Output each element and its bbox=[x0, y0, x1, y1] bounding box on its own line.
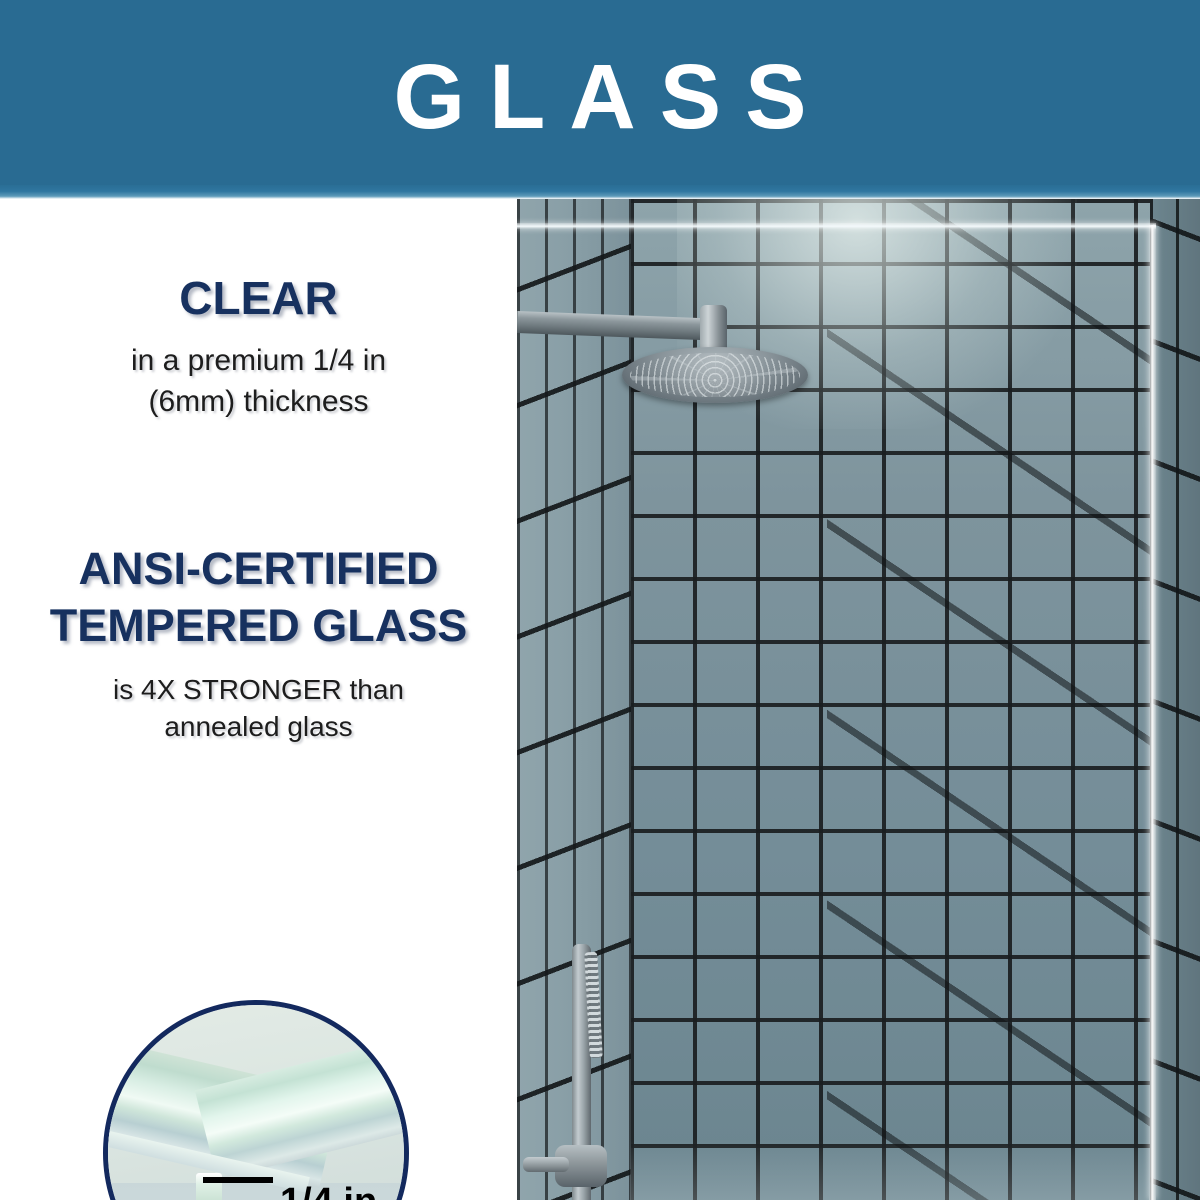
glass-panel-vertical-edge bbox=[1149, 225, 1156, 1200]
right-wall-grout-diagonal bbox=[1150, 199, 1200, 1200]
feature-ansi-subtext-line2: annealed glass bbox=[0, 708, 517, 745]
tiled-right-wall bbox=[1150, 199, 1200, 1200]
glass-thickness-diagram: 1/4 in (6mm) bbox=[103, 1000, 409, 1200]
rain-shower-head bbox=[622, 347, 808, 403]
feature-clear-subtext: in a premium 1/4 in (6mm) thickness bbox=[0, 340, 517, 422]
shower-product-photo bbox=[517, 199, 1200, 1200]
feature-clear: CLEAR in a premium 1/4 in (6mm) thicknes… bbox=[0, 270, 517, 422]
infographic-page: GLASS CLEAR in a premium 1/4 in (6mm) th… bbox=[0, 0, 1200, 1200]
page-title: GLASS bbox=[0, 47, 1200, 147]
feature-ansi-subtext-line1: is 4X STRONGER than bbox=[0, 671, 517, 708]
measurement-line-top bbox=[203, 1177, 273, 1183]
feature-ansi-heading-line1: ANSI-CERTIFIED bbox=[0, 540, 517, 597]
feature-ansi-subtext: is 4X STRONGER than annealed glass bbox=[0, 671, 517, 745]
header-banner-shadow bbox=[0, 185, 1200, 199]
left-content-column: CLEAR in a premium 1/4 in (6mm) thicknes… bbox=[0, 200, 517, 1200]
feature-ansi-certified: ANSI-CERTIFIED TEMPERED GLASS is 4X STRO… bbox=[0, 540, 517, 745]
feature-clear-heading: CLEAR bbox=[0, 270, 517, 326]
feature-ansi-heading: ANSI-CERTIFIED TEMPERED GLASS bbox=[0, 540, 517, 654]
feature-ansi-heading-line2: TEMPERED GLASS bbox=[0, 597, 517, 654]
feature-clear-subtext-line2: (6mm) thickness bbox=[0, 381, 517, 422]
header-banner: GLASS bbox=[0, 0, 1200, 185]
thickness-callout-label: 1/4 in (6mm) bbox=[280, 1181, 409, 1200]
glass-panel-top-edge bbox=[517, 223, 1156, 229]
feature-clear-subtext-line1: in a premium 1/4 in bbox=[0, 340, 517, 381]
shower-head-spokes bbox=[630, 353, 800, 397]
thickness-label-inches: 1/4 in bbox=[280, 1181, 409, 1200]
hand-shower-spout bbox=[523, 1157, 569, 1172]
